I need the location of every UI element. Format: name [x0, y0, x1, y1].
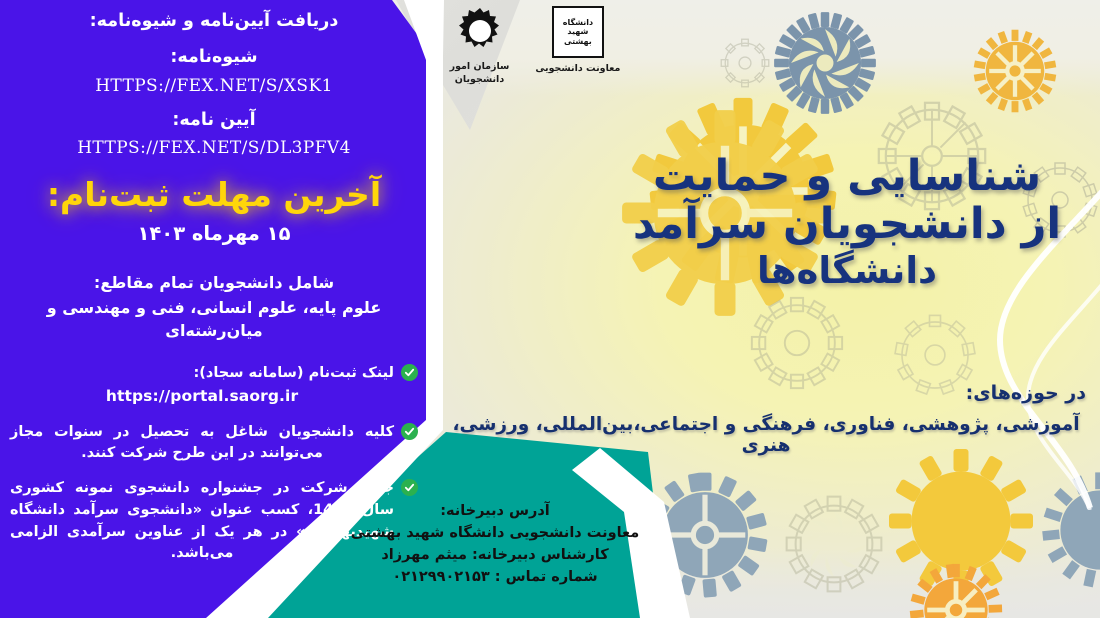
title-line-3: دانشگاه‌ها	[612, 250, 1082, 291]
method-url-link[interactable]: HTTPS://FEX.NET/S/XSK1	[10, 76, 418, 96]
saorg-logo-caption: سازمان امور دانشجویان	[450, 61, 510, 86]
check-circle-icon	[401, 479, 418, 496]
saorg-emblem-icon	[455, 6, 505, 56]
sbu-emblem-icon: دانشگاه شهید بهشتی	[552, 6, 604, 58]
student-affairs-organization-logo: سازمان امور دانشجویان	[450, 6, 510, 86]
fields-block: در حوزه‌های: آموزشی، پژوهشی، فناوری، فره…	[446, 382, 1086, 456]
secretariat-address-label: آدرس دبیرخانه:	[300, 500, 690, 522]
poster-root: دانشگاه شهید بهشتی معاونت دانشجویی سازما…	[0, 0, 1100, 618]
regulation-label: آیین نامه:	[10, 109, 418, 131]
fields-body: آموزشی، پژوهشی، فناوری، فرهنگی و اجتماعی…	[446, 414, 1086, 456]
fields-heading: در حوزه‌های:	[446, 382, 1086, 404]
secretariat-phone: شماره تماس : ۰۲۱۲۹۹۰۲۱۵۳	[300, 566, 690, 588]
sbu-logo-caption: معاونت دانشجویی	[535, 63, 620, 76]
includes-line-1: شامل دانشجویان تمام مقاطع:	[10, 271, 418, 294]
page-title: شناسایی و حمایت از دانشجویان سرآمد دانشگ…	[612, 152, 1082, 292]
method-label: شیوه‌نامه:	[10, 46, 418, 68]
secretariat-contact-block: آدرس دبیرخانه: معاونت دانشجویی دانشگاه ش…	[300, 500, 690, 588]
shahid-beheshti-university-logo: دانشگاه شهید بهشتی معاونت دانشجویی	[535, 6, 620, 76]
title-line-1: شناسایی و حمایت	[612, 152, 1082, 200]
title-line-2: از دانشجویان سرآمد	[612, 200, 1082, 248]
gear-outline-bottom-icon	[770, 480, 898, 608]
download-header: دریافت آیین‌نامه و شیوه‌نامه:	[10, 10, 418, 32]
regulation-url-link[interactable]: HTTPS://FEX.NET/S/DL3PFV4	[10, 138, 418, 158]
sbu-emblem-text: دانشگاه شهید بهشتی	[554, 18, 602, 46]
gear-steel-right-edge-icon	[1040, 470, 1100, 590]
gear-orange-small-icon	[972, 28, 1058, 114]
check-circle-icon	[401, 364, 418, 381]
includes-line-2: علوم پایه، علوم انسانی، فنی و مهندسی و م…	[10, 296, 418, 342]
list-item: کلیه دانشجویان شاغل به تحصیل در سنوات مج…	[10, 422, 418, 466]
list-item-label: لینک ثبت‌نام (سامانه سجاد):	[193, 365, 394, 381]
registration-portal-link[interactable]: https://portal.saorg.ir	[10, 385, 394, 408]
list-item-label: کلیه دانشجویان شاغل به تحصیل در سنوات مج…	[10, 424, 394, 462]
logo-row: دانشگاه شهید بهشتی معاونت دانشجویی سازما…	[420, 6, 650, 110]
secretariat-address-value: معاونت دانشجویی دانشگاه شهید بهشتی	[300, 522, 690, 544]
secretariat-expert: کارشناس دبیرخانه: میثم مهرزاد	[300, 544, 690, 566]
gear-orange-bottomleft-icon	[908, 562, 1004, 618]
deadline-date: ۱۵ مهرماه ۱۴۰۳	[10, 222, 418, 245]
list-item: لینک ثبت‌نام (سامانه سجاد): https://port…	[10, 363, 418, 409]
check-circle-icon	[401, 423, 418, 440]
deadline-title: آخرین مهلت ثبت‌نام:	[10, 176, 418, 214]
gear-outline-small-left-icon	[712, 30, 778, 96]
